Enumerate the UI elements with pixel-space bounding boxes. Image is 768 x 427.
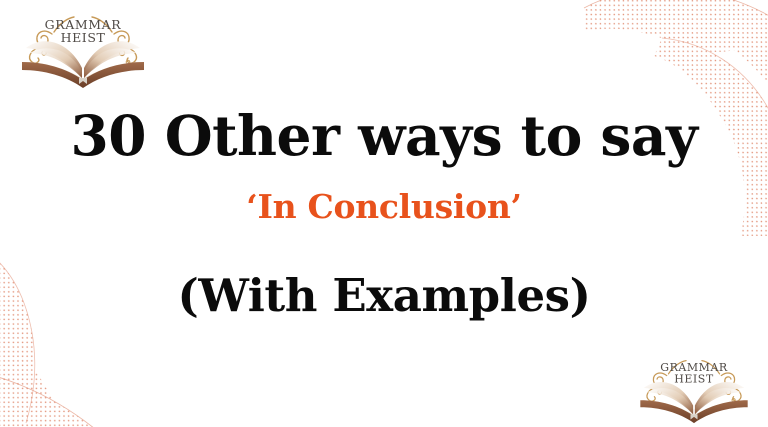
page-title: 30 Other ways to say [71,108,698,164]
brand-logo-bottom-right[interactable]: GRAMMAR HEIST [628,349,760,425]
open-book-icon [640,382,747,423]
page-tagline: (With Examples) [177,273,590,318]
page-subtitle-accent: ‘In Conclusion’ [246,190,521,223]
poster-canvas: GRAMMAR HEIST 30 Other ways to say ‘In C… [0,0,768,427]
logo-wordmark-line2: HEIST [674,373,714,386]
